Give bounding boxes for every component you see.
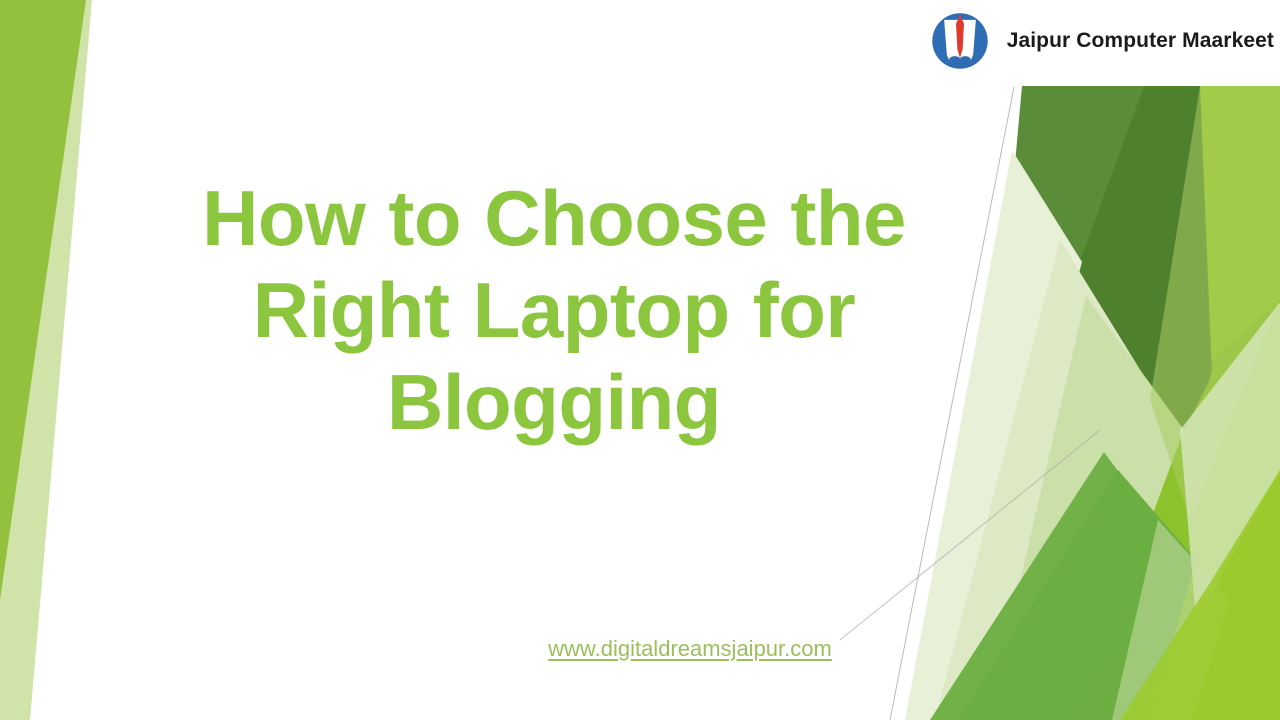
jcm-circle-logo-icon: [927, 8, 993, 74]
deco-lower-right-yellowgreen: [1006, 300, 1280, 720]
deco-hairline-lower: [840, 430, 1100, 640]
deco-light-highlight: [1180, 302, 1280, 620]
deco-soft-pale-triangle: [1112, 520, 1230, 720]
brand-name: Jaipur Computer Maarkeet: [1007, 29, 1274, 53]
left-wedge-shape: [0, 0, 86, 600]
deco-deep-olive-shape: [1055, 86, 1212, 562]
deco-pale-band: [988, 296, 1184, 720]
deco-bright-bottom-wedge: [1120, 470, 1280, 720]
website-url-container: www.digitaldreamsjaipur.com: [400, 636, 980, 662]
presentation-slide: Jaipur Computer Maarkeet How to Choose t…: [0, 0, 1280, 720]
website-url-link[interactable]: www.digitaldreamsjaipur.com: [548, 636, 832, 661]
deco-mid-green-lower: [958, 470, 1196, 720]
deco-right-bright-column: [1080, 86, 1280, 720]
deco-pale-overlay-right: [1150, 86, 1280, 520]
left-wedge-light-shape: [0, 0, 92, 720]
title-container: How to Choose the Right Laptop for Blogg…: [96, 172, 1012, 448]
deco-dark-olive-diamond: [1000, 86, 1210, 560]
deco-mid-green-bottom: [930, 452, 1180, 720]
brand-header: Jaipur Computer Maarkeet: [927, 8, 1274, 74]
slide-title: How to Choose the Right Laptop for Blogg…: [96, 172, 1012, 448]
